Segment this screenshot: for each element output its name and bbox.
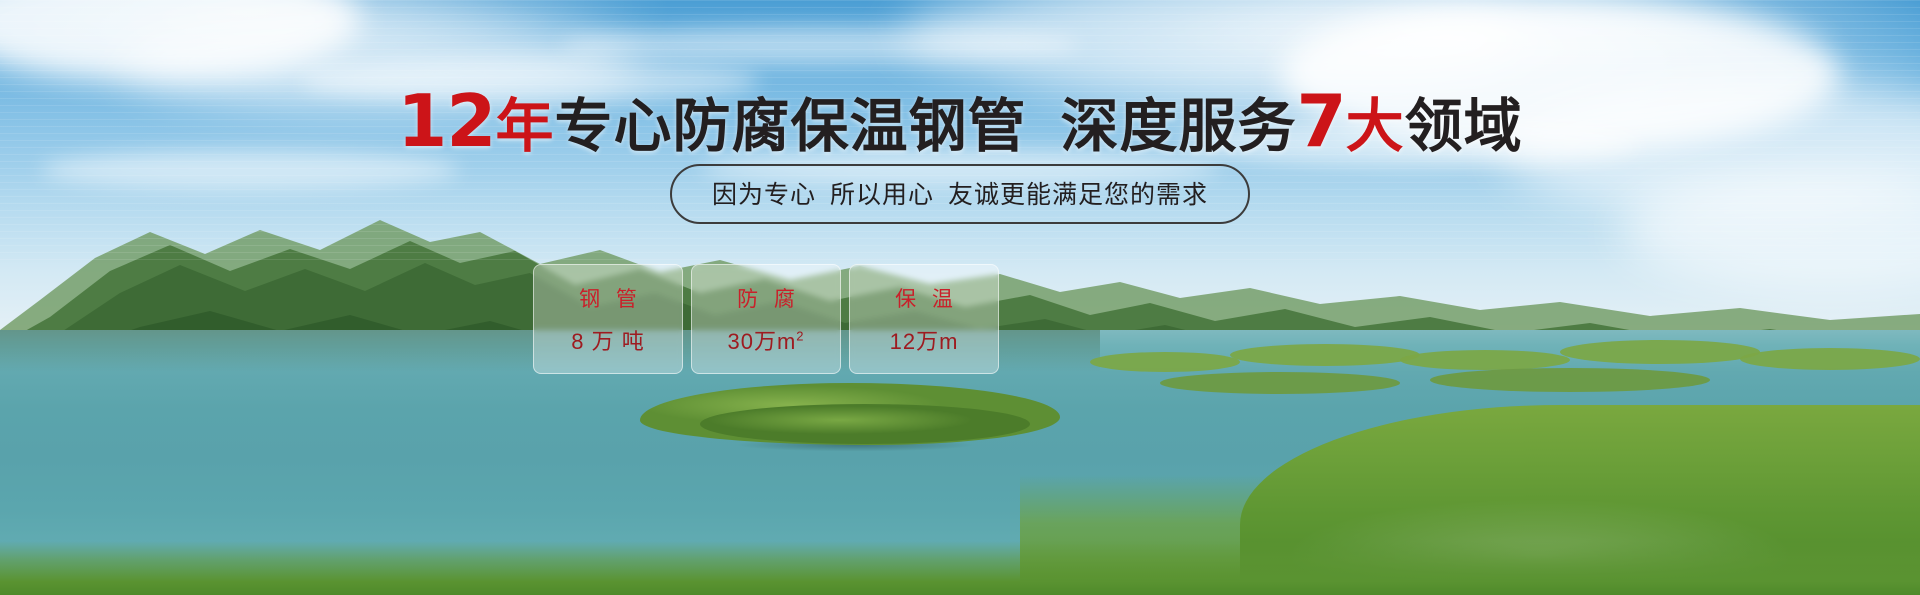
- stat-card-anticorrosion: 防 腐 30万m2: [691, 264, 841, 374]
- headline-service-text: 深度服务: [1061, 94, 1297, 159]
- marsh-patch: [1430, 368, 1710, 392]
- marsh-patch: [1400, 350, 1570, 370]
- stat-card-label: 防 腐: [732, 283, 800, 313]
- stat-card-value-main: 12万m: [890, 329, 959, 354]
- stat-card-value-main: 30万m: [727, 329, 796, 354]
- marsh-patch: [1160, 372, 1400, 394]
- marsh-patch: [1090, 352, 1240, 372]
- headline-fields-text: 领域: [1405, 94, 1523, 159]
- stat-card-insulation: 保 温 12万m: [849, 264, 999, 374]
- marsh-patch: [1740, 348, 1920, 370]
- headline-fields-number: 7: [1297, 79, 1346, 163]
- subtitle-container: 因为专心所以用心友诚更能满足您的需求: [0, 164, 1920, 224]
- subtitle-part-1: 因为专心: [712, 181, 816, 209]
- stat-card-value-main: 8 万 吨: [571, 329, 644, 354]
- marsh-patch: [1560, 340, 1760, 364]
- stat-card-value: 8 万 吨: [571, 324, 644, 356]
- promo-banner: 12年专心防腐保温钢管深度服务7大领域 因为专心所以用心友诚更能满足您的需求 钢…: [0, 0, 1920, 595]
- grass-foreground-bottom: [0, 541, 1920, 595]
- headline-fields-unit: 大: [1346, 94, 1405, 159]
- stat-card-steel-pipe: 钢 管 8 万 吨: [533, 264, 683, 374]
- headline-main-text: 专心防腐保温钢管: [555, 94, 1027, 159]
- marsh-patch: [1230, 344, 1420, 366]
- grass-island-front: [700, 404, 1030, 444]
- stat-card-label: 保 温: [890, 283, 958, 313]
- headline-years-unit: 年: [496, 94, 555, 159]
- stat-cards: 钢 管 8 万 吨 防 腐 30万m2 保 温 12万m: [533, 264, 999, 374]
- stat-card-value: 12万m: [890, 324, 959, 356]
- subtitle-pill: 因为专心所以用心友诚更能满足您的需求: [670, 164, 1250, 224]
- headline-years-number: 12: [397, 79, 495, 163]
- subtitle-part-3: 友诚更能满足您的需求: [948, 181, 1208, 209]
- stat-card-label: 钢 管: [574, 283, 642, 313]
- subtitle-part-2: 所以用心: [830, 181, 934, 209]
- stat-card-value: 30万m2: [727, 324, 804, 356]
- stat-card-value-superscript: 2: [796, 328, 804, 343]
- headline: 12年专心防腐保温钢管深度服务7大领域: [0, 84, 1920, 160]
